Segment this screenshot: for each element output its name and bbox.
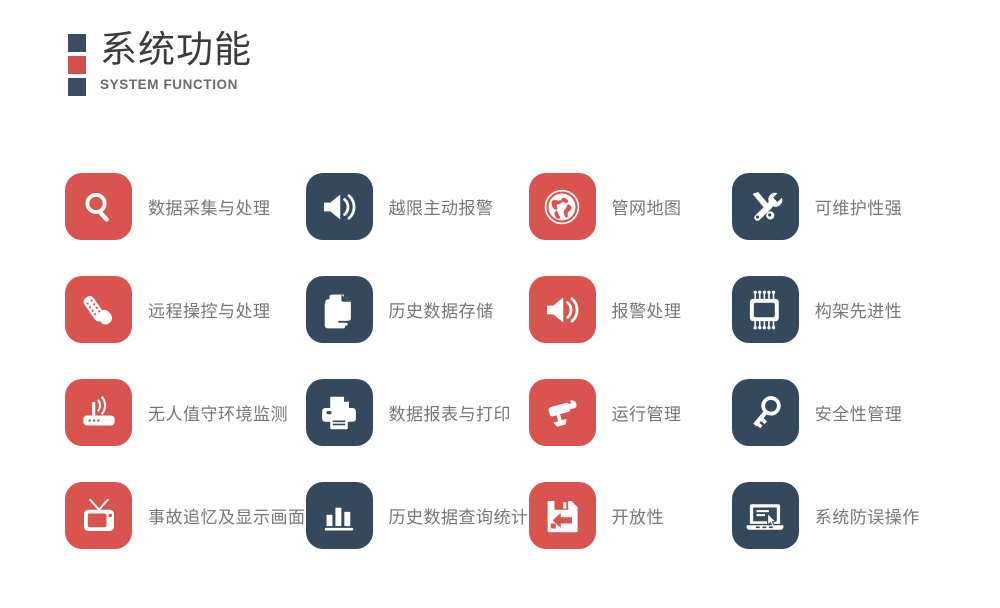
feature-icon-tile[interactable] bbox=[65, 276, 132, 343]
television-icon bbox=[79, 496, 119, 536]
feature-item[interactable]: 构架先进性 bbox=[732, 258, 935, 361]
page-title: 系统功能 bbox=[100, 28, 252, 72]
feature-icon-tile[interactable] bbox=[65, 379, 132, 446]
feature-item[interactable]: 系统防误操作 bbox=[732, 464, 935, 567]
header-mark-square-dark-bottom bbox=[68, 78, 86, 96]
documents-icon bbox=[320, 291, 358, 329]
feature-label: 数据报表与打印 bbox=[389, 400, 512, 425]
printer-icon bbox=[319, 393, 359, 433]
feature-icon-tile[interactable] bbox=[529, 276, 596, 343]
feature-item[interactable]: 历史数据查询统计 bbox=[306, 464, 529, 567]
feature-icon-tile[interactable] bbox=[732, 482, 799, 549]
feature-icon-tile[interactable] bbox=[732, 276, 799, 343]
feature-icon-tile[interactable] bbox=[65, 173, 132, 240]
page-subtitle: SYSTEM FUNCTION bbox=[100, 76, 252, 94]
feature-label: 报警处理 bbox=[612, 297, 682, 322]
laptop-icon bbox=[744, 495, 786, 537]
feature-item[interactable]: 远程操控与处理 bbox=[65, 258, 306, 361]
feature-item[interactable]: 可维护性强 bbox=[732, 155, 935, 258]
save-import-icon bbox=[542, 496, 582, 536]
magnifier-icon bbox=[80, 188, 118, 226]
feature-icon-tile[interactable] bbox=[529, 173, 596, 240]
feature-label: 安全性管理 bbox=[815, 400, 903, 425]
tools-icon bbox=[745, 187, 785, 227]
router-icon bbox=[79, 393, 119, 433]
bar-chart-icon bbox=[320, 497, 358, 535]
feature-label: 数据采集与处理 bbox=[148, 194, 271, 219]
feature-icon-tile[interactable] bbox=[65, 482, 132, 549]
feature-icon-tile[interactable] bbox=[732, 173, 799, 240]
header-texts: 系统功能 SYSTEM FUNCTION bbox=[100, 28, 252, 94]
globe-icon bbox=[541, 186, 583, 228]
remote-hand-icon bbox=[79, 290, 119, 330]
cpu-chip-icon bbox=[744, 289, 786, 331]
feature-label: 管网地图 bbox=[612, 194, 682, 219]
header-mark-square-red bbox=[68, 56, 86, 74]
feature-icon-tile[interactable] bbox=[306, 276, 373, 343]
feature-label: 远程操控与处理 bbox=[148, 297, 271, 322]
feature-item[interactable]: 报警处理 bbox=[529, 258, 732, 361]
feature-label: 越限主动报警 bbox=[389, 194, 494, 219]
feature-label: 历史数据查询统计 bbox=[389, 503, 529, 528]
feature-icon-tile[interactable] bbox=[529, 379, 596, 446]
feature-item[interactable]: 运行管理 bbox=[529, 361, 732, 464]
header-marks bbox=[68, 34, 86, 96]
feature-icon-tile[interactable] bbox=[306, 379, 373, 446]
feature-item[interactable]: 管网地图 bbox=[529, 155, 732, 258]
feature-item[interactable]: 数据报表与打印 bbox=[306, 361, 529, 464]
header-mark-square-dark-top bbox=[68, 34, 86, 52]
cctv-camera-icon bbox=[542, 393, 582, 433]
feature-icon-tile[interactable] bbox=[529, 482, 596, 549]
feature-label: 事故追忆及显示画面 bbox=[148, 503, 306, 528]
key-icon bbox=[745, 393, 785, 433]
feature-label: 构架先进性 bbox=[815, 297, 903, 322]
feature-label: 系统防误操作 bbox=[815, 503, 920, 528]
feature-label: 无人值守环境监测 bbox=[148, 400, 288, 425]
feature-label: 历史数据存储 bbox=[389, 297, 494, 322]
feature-grid: 数据采集与处理 越限主动报警 管网地图 可维护性强 bbox=[65, 155, 935, 567]
page-header: 系统功能 SYSTEM FUNCTION bbox=[68, 28, 252, 96]
feature-item[interactable]: 数据采集与处理 bbox=[65, 155, 306, 258]
feature-label: 运行管理 bbox=[612, 400, 682, 425]
feature-icon-tile[interactable] bbox=[732, 379, 799, 446]
feature-label: 可维护性强 bbox=[815, 194, 903, 219]
feature-item[interactable]: 越限主动报警 bbox=[306, 155, 529, 258]
feature-item[interactable]: 事故追忆及显示画面 bbox=[65, 464, 306, 567]
feature-item[interactable]: 无人值守环境监测 bbox=[65, 361, 306, 464]
feature-icon-tile[interactable] bbox=[306, 173, 373, 240]
feature-item[interactable]: 开放性 bbox=[529, 464, 732, 567]
feature-icon-tile[interactable] bbox=[306, 482, 373, 549]
feature-item[interactable]: 安全性管理 bbox=[732, 361, 935, 464]
speaker-icon bbox=[319, 187, 359, 227]
feature-label: 开放性 bbox=[612, 503, 665, 528]
feature-item[interactable]: 历史数据存储 bbox=[306, 258, 529, 361]
speaker-icon bbox=[542, 290, 582, 330]
